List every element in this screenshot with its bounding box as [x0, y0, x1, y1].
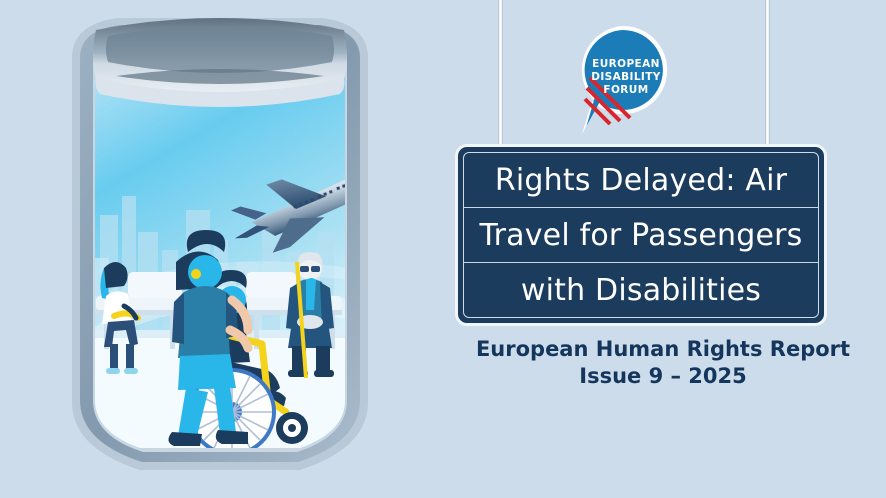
sign-title-line-1: Rights Delayed: Air — [464, 153, 818, 207]
logo-line-3: FORUM — [603, 84, 648, 96]
window-shade — [93, 18, 347, 107]
sign-pole-left — [498, 0, 503, 160]
sign-title-line-3: with Disabilities — [464, 262, 818, 317]
sign-title-line-2: Travel for Passengers — [464, 207, 818, 262]
report-subtitle: European Human Rights Report Issue 9 – 2… — [440, 336, 886, 390]
european-disability-forum-logo: EUROPEAN DISABILITY FORUM — [568, 22, 678, 140]
cover-title-panel: EUROPEAN DISABILITY FORUM Rights Delayed… — [440, 0, 886, 498]
logo-line-1: EUROPEAN — [592, 58, 660, 70]
sign-inner-border: Rights Delayed: Air Travel for Passenger… — [463, 152, 819, 318]
airplane-window-illustration — [0, 0, 440, 498]
sign-pole-right — [765, 0, 770, 160]
logo-line-2: DISABILITY — [591, 71, 661, 83]
report-cover: EUROPEAN DISABILITY FORUM Rights Delayed… — [0, 0, 886, 498]
subtitle-line-1: European Human Rights Report — [476, 337, 850, 361]
caster-wheel — [276, 412, 308, 444]
title-sign: Rights Delayed: Air Travel for Passenger… — [455, 144, 827, 326]
sign-outer-border: Rights Delayed: Air Travel for Passenger… — [455, 144, 827, 326]
subtitle-line-2: Issue 9 – 2025 — [440, 363, 886, 390]
